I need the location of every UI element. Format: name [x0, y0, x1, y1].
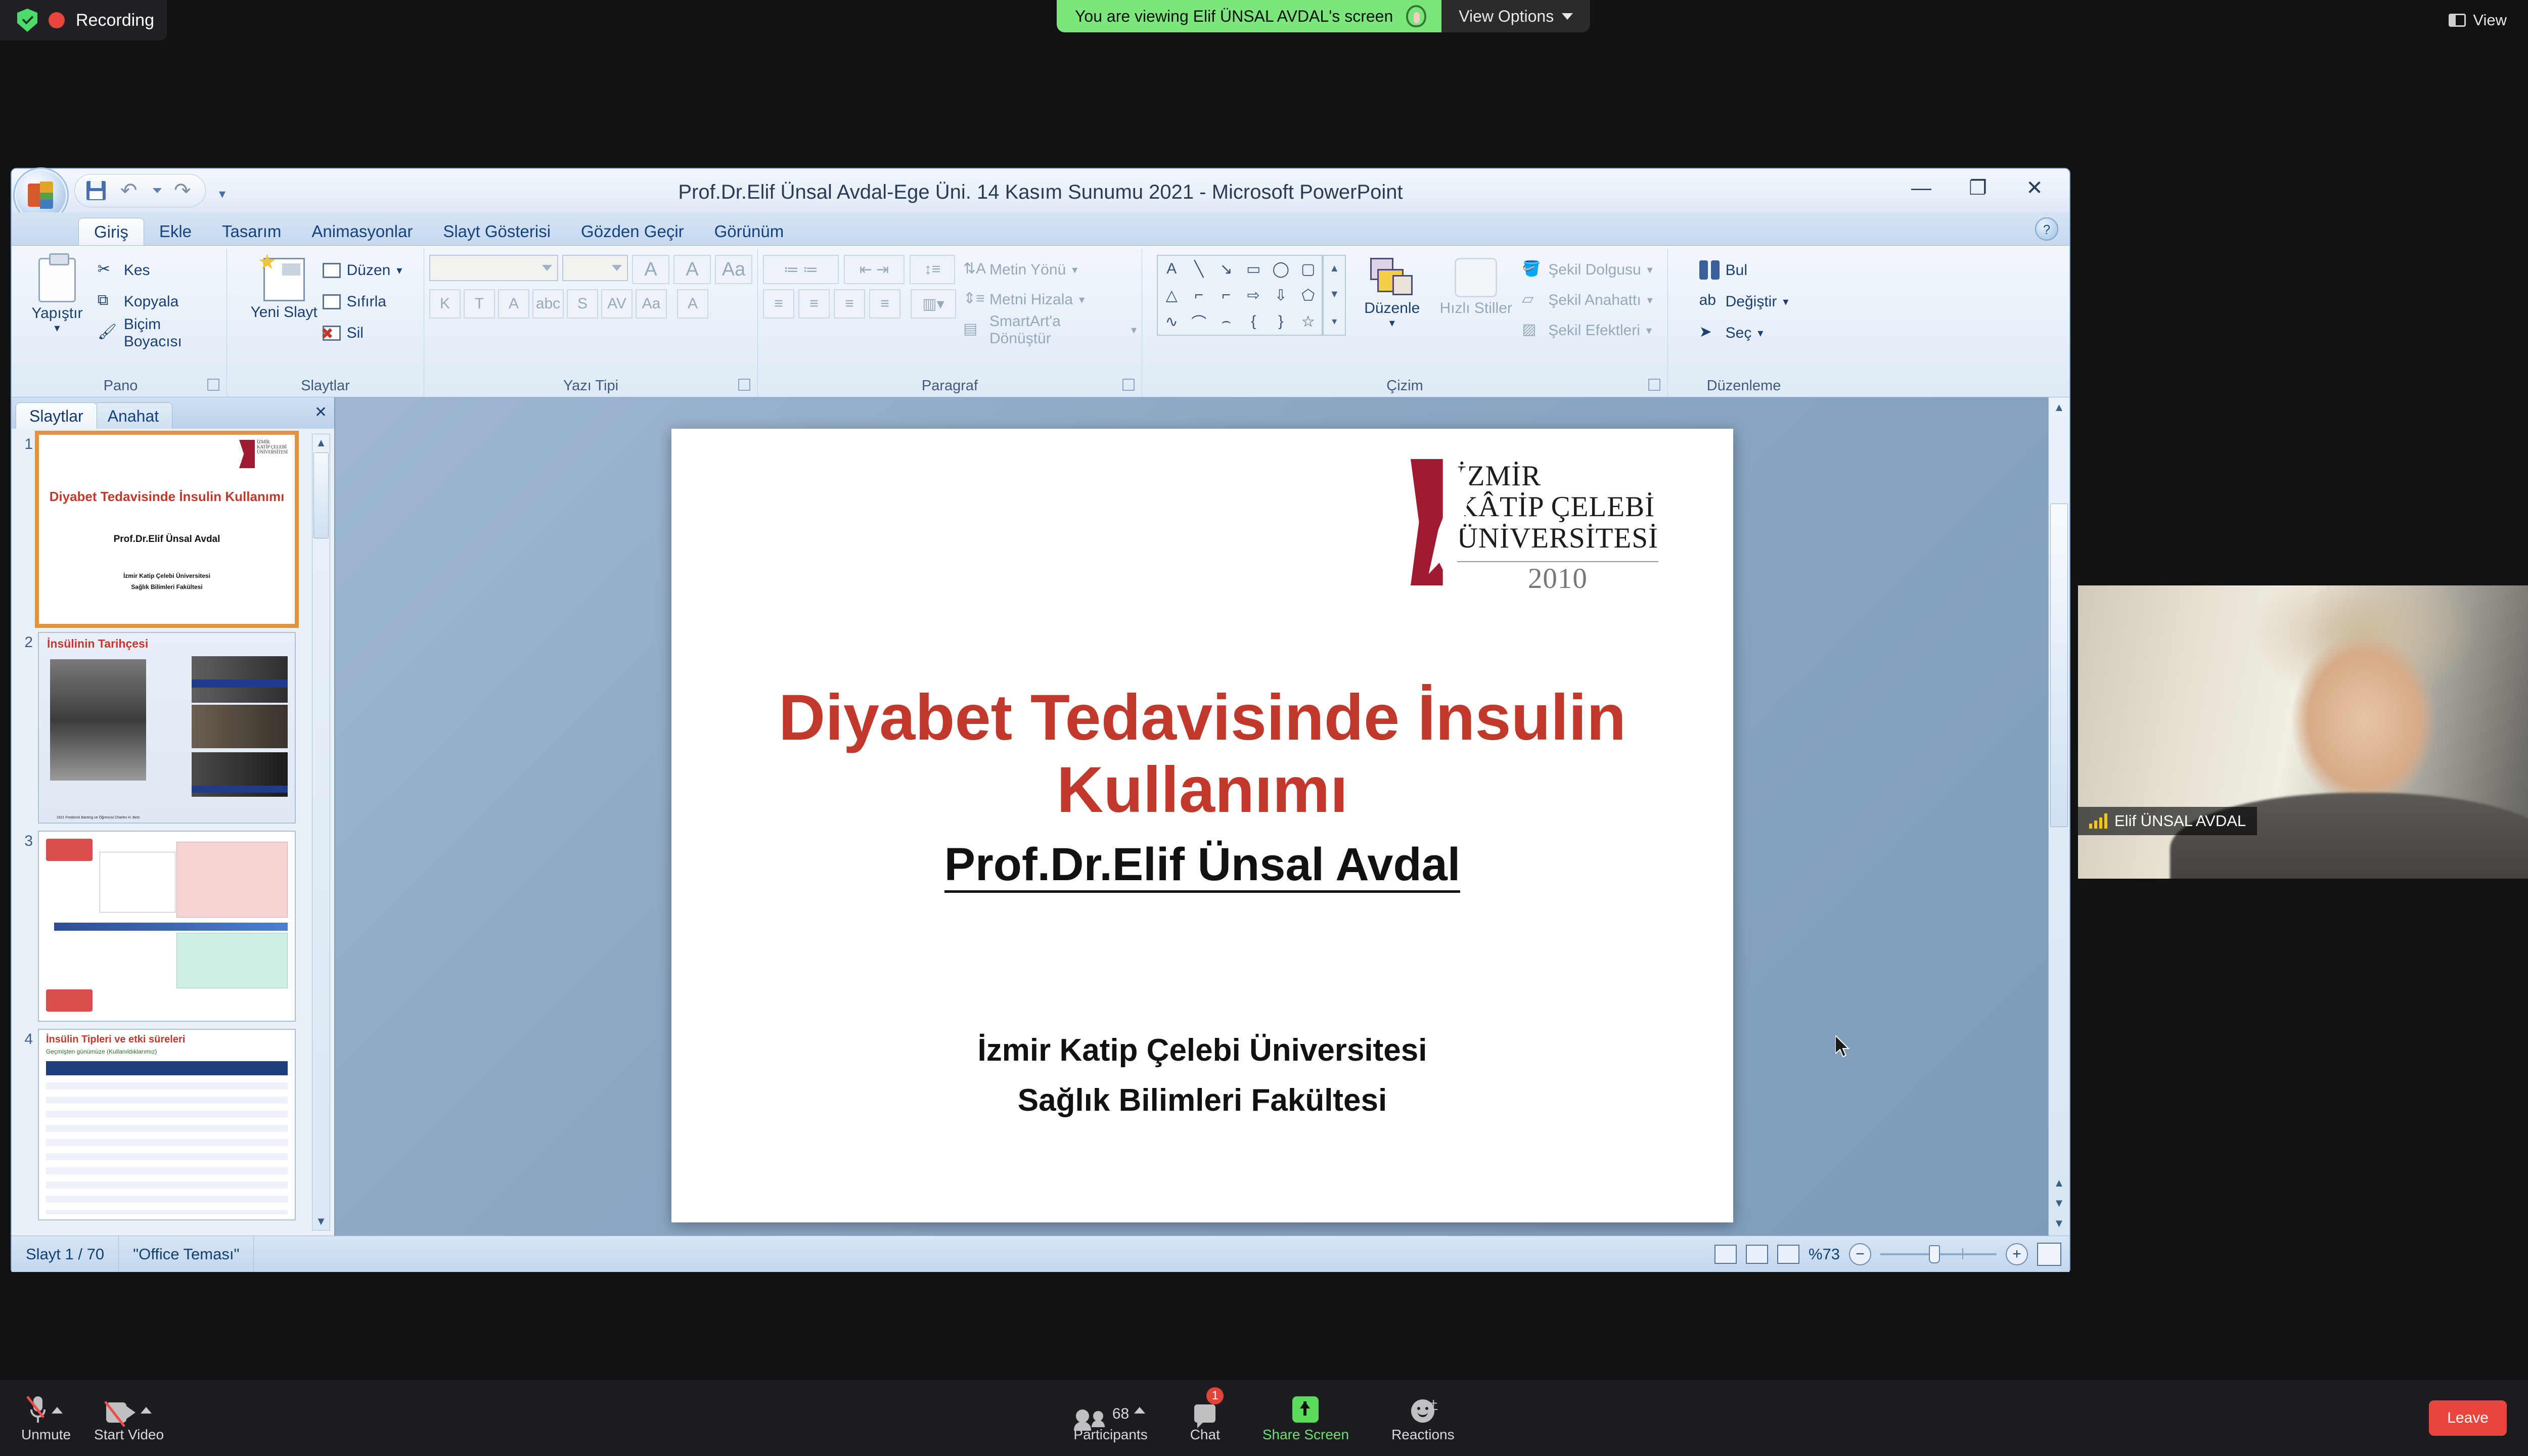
tab-ekle[interactable]: Ekle	[144, 218, 207, 245]
scissors-icon: ✂	[98, 260, 118, 281]
view-options-label: View Options	[1459, 7, 1554, 26]
powerpoint-status-bar: Slayt 1 / 70 "Office Teması" %73 − +	[12, 1236, 2069, 1272]
shape-pentagon-icon[interactable]: ⬠	[1294, 282, 1322, 308]
university-logo: İZMİR KÂTİP ÇELEBİ ÜNİVERSİTESİ 2010	[1411, 459, 1658, 596]
reset-icon	[323, 294, 341, 309]
drawing-dialog-launcher[interactable]	[1648, 379, 1660, 391]
slide-scroll-up-icon[interactable]: ▲	[2049, 397, 2069, 418]
slide-title-line1: Diyabet Tedavisinde İnsulin	[779, 681, 1626, 754]
shapes-gallery[interactable]: A ╲ ↘ ▭ ◯ ▢ △ ⌐ ⌐ ⇨ ⇩ ⬠ ∿	[1157, 255, 1323, 336]
thumbnail-title: İnsülinin Tarihçesi	[47, 637, 148, 651]
logo-line-3: ÜNİVERSİTESİ	[1457, 523, 1658, 554]
previous-slide-icon[interactable]: ▲	[2049, 1173, 2069, 1193]
powerpoint-main-area: Slaytlar Anahat ✕ 1 İZMİRKATİP ÇELEBİÜNİ…	[12, 397, 2069, 1236]
delete-icon: ✖	[323, 326, 341, 341]
layout-view-icon	[2449, 14, 2466, 27]
text-direction-button[interactable]: ⇅A Metin Yönü ▾	[963, 255, 1137, 285]
theme-name: "Office Teması"	[119, 1236, 254, 1272]
minimize-button[interactable]: —	[1894, 174, 1948, 202]
slide-author-text: Prof.Dr.Elif Ünsal Avdal	[944, 839, 1461, 893]
logo-year: 2010	[1457, 561, 1658, 595]
slide-thumbnail-list[interactable]: 1 İZMİRKATİP ÇELEBİÜNİVERSİTESİ Diyabet …	[12, 429, 334, 1236]
list-item[interactable]: 1 İZMİRKATİP ÇELEBİÜNİVERSİTESİ Diyabet …	[18, 434, 308, 625]
slide-sorter-view-button[interactable]	[1746, 1245, 1768, 1264]
shape-arrow-icon[interactable]: ↘	[1212, 256, 1240, 282]
current-slide[interactable]: İZMİR KÂTİP ÇELEBİ ÜNİVERSİTESİ 2010 Diy…	[671, 429, 1733, 1222]
arrange-label: Düzenle	[1364, 300, 1420, 316]
security-shield-icon	[17, 9, 37, 32]
ribbon-group-slides: Yeni Slayt Düzen ▾ Sıfırla	[227, 249, 424, 397]
smartart-icon: ▤	[963, 320, 983, 340]
text-direction-icon: ⇅A	[963, 260, 983, 280]
layout-label: Düzen	[347, 262, 391, 279]
mouse-cursor	[1835, 1035, 1853, 1060]
shape-textbox-icon[interactable]: A	[1158, 256, 1185, 282]
strikethrough-button[interactable]: abc	[532, 289, 564, 318]
paragraph-dialog-launcher[interactable]	[1122, 379, 1135, 391]
logo-line-2: KÂTİP ÇELEBİ	[1457, 491, 1658, 523]
tab-gozden-gecir[interactable]: Gözden Geçir	[566, 218, 699, 245]
format-painter-label: Biçim Boyacısı	[124, 316, 221, 350]
zoom-slider-tick	[1962, 1248, 1963, 1259]
thumbnail-caption: 1921 Frederick Banting ve Öğrencisi Char…	[50, 816, 146, 820]
shape-fill-button[interactable]: 🪣 Şekil Dolgusu ▾	[1522, 255, 1653, 285]
recording-label: Recording	[76, 11, 154, 30]
thumbnail-title: İnsülin Tipleri ve etki süreleri	[46, 1034, 185, 1045]
chat-icon: 1	[1194, 1393, 1215, 1423]
thumbnail-org1: İzmir Katip Çelebi Üniversitesi	[49, 572, 285, 579]
thumbnail-title: Diyabet Tedavisinde İnsulin Kullanımı	[49, 489, 285, 505]
thumbnails-scroll-down-icon[interactable]: ▼	[312, 1213, 330, 1230]
screen-share-banner: You are viewing Elif ÜNSAL AVDAL's scree…	[1057, 0, 1590, 32]
restore-button[interactable]: ❐	[1951, 174, 2005, 202]
list-item[interactable]: 4 İnsülin Tipleri ve etki süreleri Geçmi…	[18, 1029, 308, 1220]
recording-dot-icon	[49, 12, 65, 28]
chat-label: Chat	[1190, 1427, 1220, 1443]
tab-gorunum[interactable]: Görünüm	[699, 218, 799, 245]
list-item[interactable]: 3	[18, 831, 308, 1022]
shape-arc-icon[interactable]: ⌒	[1185, 308, 1212, 335]
bold-button[interactable]: K	[429, 289, 461, 318]
new-slide-icon	[263, 258, 305, 301]
ribbon-group-font: A A Aa K T A abc S AV Aa A	[424, 249, 758, 397]
window-controls: — ❐ ✕	[1894, 174, 2061, 202]
shape-rounded-rect-icon[interactable]: ▢	[1294, 256, 1322, 282]
slide-show-view-button[interactable]	[1777, 1245, 1799, 1264]
tab-slayt-gosterisi[interactable]: Slayt Gösterisi	[428, 218, 566, 245]
binoculars-icon	[1699, 260, 1720, 281]
shadow-button[interactable]: S	[567, 289, 598, 318]
ribbon: Yapıştır ▾ ✂ Kes ⧉ Kopyala 🖌	[12, 246, 2069, 397]
slides-pane-close-button[interactable]: ✕	[314, 403, 327, 421]
zoom-level-label: %73	[1809, 1245, 1840, 1263]
powerpoint-window: ↶ ↷ ▾ Prof.Dr.Elif Ünsal Avdal-Ege Üni. …	[11, 168, 2070, 1271]
logo-text-block: İZMİR KÂTİP ÇELEBİ ÜNİVERSİTESİ 2010	[1443, 459, 1658, 596]
zoom-in-button[interactable]: +	[2006, 1243, 2028, 1265]
share-status-icon	[1406, 5, 1426, 27]
fit-slide-to-window-button[interactable]	[2037, 1243, 2061, 1266]
speaker-video-tile[interactable]: Elif ÜNSAL AVDAL	[2078, 585, 2528, 879]
gallery-expand-icon[interactable]: ▾	[1332, 315, 1337, 328]
slide-org-line2: Sağlık Bilimleri Fakültesi	[737, 1075, 1667, 1125]
slide-title[interactable]: Diyabet Tedavisinde İnsulin Kullanımı	[737, 681, 1667, 827]
reactions-icon: +	[1411, 1393, 1434, 1423]
gallery-scroll-down-icon[interactable]: ▼	[1329, 289, 1339, 300]
next-slide-icon[interactable]: ▼	[2049, 1193, 2069, 1213]
font-name-input[interactable]	[429, 255, 558, 281]
thumbnail-number: 3	[18, 831, 38, 850]
chat-button[interactable]: 1 Chat	[1190, 1393, 1220, 1443]
izmir-katip-celebi-logo-icon	[1411, 459, 1443, 585]
reset-label: Sıfırla	[347, 293, 386, 310]
slide-title-line2: Kullanımı	[1057, 754, 1348, 826]
bullets-button[interactable]: ≔ ≔	[763, 255, 839, 284]
underline-button[interactable]: A	[498, 289, 529, 318]
align-right-button[interactable]: ≡	[834, 289, 865, 318]
zoom-bottom-toolbar: Unmute Start Video 68 Participants	[0, 1380, 2528, 1456]
delete-label: Sil	[347, 325, 364, 342]
view-layout-button[interactable]: View	[2449, 11, 2507, 29]
convert-smartart-button[interactable]: ▤ SmartArt'a Dönüştür ▾	[963, 314, 1137, 346]
text-direction-label: Metin Yönü	[989, 261, 1066, 279]
reset-button[interactable]: Sıfırla	[323, 286, 402, 317]
participants-caret-icon[interactable]	[1134, 1407, 1145, 1414]
change-case-button[interactable]: Aa	[636, 289, 667, 318]
share-banner-text-wrap: You are viewing Elif ÜNSAL AVDAL's scree…	[1057, 0, 1441, 32]
paste-button[interactable]: Yapıştır ▾	[20, 255, 95, 335]
pane-tab-anahat[interactable]: Anahat	[94, 402, 172, 429]
paste-icon	[38, 258, 76, 302]
list-item[interactable]: 2 İnsülinin Tarihçesi 1921 Frederick B	[18, 632, 308, 823]
thumbnails-scroll-up-icon[interactable]: ▲	[312, 434, 330, 451]
arrange-icon	[1370, 258, 1414, 297]
copy-button[interactable]: ⧉ Kopyala	[98, 286, 221, 317]
slide-organization[interactable]: İzmir Katip Çelebi Üniversitesi Sağlık B…	[737, 1025, 1667, 1125]
quick-styles-button[interactable]: Hızlı Stiller	[1438, 255, 1514, 316]
video-name-label: Elif ÜNSAL AVDAL	[2078, 807, 2257, 835]
quick-styles-icon	[1455, 258, 1497, 297]
copy-label: Kopyala	[124, 293, 178, 310]
font-size-input[interactable]	[562, 255, 628, 281]
select-cursor-icon: ➤	[1699, 323, 1720, 343]
zoom-meeting-shell: Recording You are viewing Elif ÜNSAL AVD…	[0, 0, 2528, 1456]
tab-animasyonlar[interactable]: Animasyonlar	[296, 218, 428, 245]
slide-scroll-down-icon[interactable]: ▼	[2049, 1213, 2069, 1234]
slide-edit-surface[interactable]: İZMİR KÂTİP ÇELEBİ ÜNİVERSİTESİ 2010 Diy…	[335, 397, 2069, 1236]
shape-outline-icon: ▱	[1522, 290, 1542, 310]
close-button[interactable]: ✕	[2008, 174, 2061, 202]
align-center-button[interactable]: ≡	[798, 289, 830, 318]
view-options-button[interactable]: View Options	[1441, 0, 1590, 32]
zoom-slider-thumb[interactable]	[1929, 1245, 1940, 1263]
shape-down-arrow-icon[interactable]: ⇩	[1267, 282, 1294, 308]
slides-group-title: Slaytlar	[232, 375, 419, 397]
slide-org-line1: İzmir Katip Çelebi Üniversitesi	[737, 1025, 1667, 1075]
slide-counter: Slayt 1 / 70	[12, 1236, 119, 1272]
font-dialog-launcher[interactable]	[738, 379, 750, 391]
format-painter-button[interactable]: 🖌 Biçim Boyacısı	[98, 317, 221, 349]
indent-buttons[interactable]: ⇤ ⇥	[844, 255, 905, 284]
line-spacing-button[interactable]: ↕≡	[910, 255, 955, 284]
select-label: Seç	[1726, 325, 1752, 342]
zoom-out-button[interactable]: −	[1849, 1243, 1871, 1265]
align-text-label: Metni Hizala	[989, 291, 1073, 308]
view-button-label: View	[2473, 11, 2507, 29]
shape-scribble-icon[interactable]: ∿	[1158, 308, 1185, 335]
layout-button[interactable]: Düzen ▾	[323, 255, 402, 286]
chat-unread-badge: 1	[1206, 1387, 1224, 1404]
replace-label: Değiştir	[1726, 293, 1777, 310]
shape-right-arrow-icon[interactable]: ⇨	[1240, 282, 1267, 308]
shape-effects-icon: ▨	[1522, 321, 1542, 341]
recording-indicator: Recording	[0, 0, 167, 40]
shape-left-brace-icon[interactable]: {	[1240, 308, 1267, 335]
new-slide-button[interactable]: Yeni Slayt	[249, 255, 320, 321]
thumbnail-subtitle: Geçmişten günümüze (Kullanıldıklarımız)	[46, 1048, 157, 1055]
share-banner-label: You are viewing Elif ÜNSAL AVDAL's scree…	[1075, 7, 1393, 26]
align-text-icon: ⇕≡	[963, 290, 983, 310]
shape-elbow-connector-icon[interactable]: ⌐	[1185, 282, 1212, 308]
arrange-button[interactable]: Düzenle ▾	[1354, 255, 1430, 330]
normal-view-button[interactable]	[1714, 1245, 1737, 1264]
paragraph-group-title: Paragraf	[763, 375, 1137, 397]
slide-author[interactable]: Prof.Dr.Elif Ünsal Avdal	[737, 838, 1667, 891]
ribbon-group-clipboard: Yapıştır ▾ ✂ Kes ⧉ Kopyala 🖌	[15, 249, 227, 397]
slides-pane: Slaytlar Anahat ✕ 1 İZMİRKATİP ÇELEBİÜNİ…	[12, 397, 335, 1236]
find-button[interactable]: Bul	[1699, 255, 1789, 286]
replace-button[interactable]: ab Değiştir ▾	[1699, 286, 1789, 317]
slide-thumbnail-1[interactable]: İZMİRKATİP ÇELEBİÜNİVERSİTESİ Diyabet Te…	[38, 434, 296, 625]
chevron-down-icon	[1562, 13, 1573, 20]
shape-rectangle-icon[interactable]: ▭	[1240, 256, 1267, 282]
paste-label: Yapıştır	[31, 305, 82, 322]
delete-slide-button[interactable]: ✖ Sil	[323, 317, 402, 349]
select-button[interactable]: ➤ Seç ▾	[1699, 317, 1789, 349]
powerpoint-titlebar: ↶ ↷ ▾ Prof.Dr.Elif Ünsal Avdal-Ege Üni. …	[12, 169, 2069, 212]
drawing-group-title: Çizim	[1147, 375, 1662, 397]
reactions-label: Reactions	[1391, 1427, 1455, 1443]
slide-thumbnail-2[interactable]: İnsülinin Tarihçesi 1921 Frederick Banti…	[38, 632, 296, 823]
thumbnail-number: 1	[18, 434, 38, 453]
speaker-name: Elif ÜNSAL AVDAL	[2114, 812, 2246, 830]
shape-triangle-icon[interactable]: △	[1158, 282, 1185, 308]
slide-area-scrollbar[interactable]: ▲ ▲ ▼ ▼	[2048, 397, 2069, 1236]
audio-level-icon	[2089, 813, 2107, 829]
pane-tab-slaytlar[interactable]: Slaytlar	[16, 402, 97, 429]
clear-formatting-button[interactable]: Aa	[715, 255, 752, 284]
tab-giris[interactable]: Giriş	[78, 218, 144, 245]
replace-icon: ab	[1699, 292, 1720, 312]
tab-tasarim[interactable]: Tasarım	[207, 218, 296, 245]
cut-label: Kes	[124, 262, 150, 279]
slide-thumbnail-4[interactable]: İnsülin Tipleri ve etki süreleri Geçmişt…	[38, 1029, 296, 1220]
italic-button[interactable]: T	[464, 289, 495, 318]
shape-elbow-arrow-icon[interactable]: ⌐	[1212, 282, 1240, 308]
ribbon-tab-strip: Giriş Ekle Tasarım Animasyonlar Slayt Gö…	[12, 212, 2069, 246]
align-left-button[interactable]: ≡	[763, 289, 794, 318]
gallery-scroll-up-icon[interactable]: ▲	[1329, 263, 1339, 275]
thumbnail-number: 4	[18, 1029, 38, 1048]
participants-count: 68	[1112, 1405, 1129, 1423]
share-screen-button[interactable]: Share Screen	[1262, 1393, 1349, 1443]
thumbnails-scroll-thumb[interactable]	[313, 452, 329, 538]
character-spacing-button[interactable]: AV	[601, 289, 633, 318]
find-label: Bul	[1726, 262, 1747, 279]
align-text-button[interactable]: ⇕≡ Metni Hizala ▾	[963, 285, 1137, 314]
thumbnail-author: Prof.Dr.Elif Ünsal Avdal	[49, 534, 285, 545]
leave-meeting-button[interactable]: Leave	[2429, 1400, 2507, 1436]
font-color-button[interactable]: A	[677, 289, 708, 318]
reactions-button[interactable]: + Reactions	[1391, 1393, 1455, 1443]
participants-icon: 68	[1076, 1393, 1145, 1423]
new-slide-label: Yeni Slayt	[250, 304, 317, 321]
help-button[interactable]: ?	[2035, 217, 2058, 241]
ribbon-group-drawing: A ╲ ↘ ▭ ◯ ▢ △ ⌐ ⌐ ⇨ ⇩ ⬠ ∿	[1142, 249, 1668, 397]
shape-curve-icon[interactable]: ⌢	[1212, 308, 1240, 335]
thumbnail-org2: Sağlık Bilimleri Fakültesi	[49, 583, 285, 590]
columns-button[interactable]: ▥▾	[911, 289, 956, 318]
shrink-font-button[interactable]: A	[673, 255, 711, 284]
logo-line-1: İZMİR	[1457, 461, 1658, 492]
slides-pane-tabs: Slaytlar Anahat ✕	[12, 397, 334, 429]
window-title: Prof.Dr.Elif Ünsal Avdal-Ege Üni. 14 Kas…	[12, 181, 2069, 204]
clipboard-dialog-launcher[interactable]	[207, 379, 219, 391]
shape-effects-button[interactable]: ▨ Şekil Efektleri ▾	[1522, 315, 1653, 346]
shape-star-icon[interactable]: ☆	[1294, 308, 1322, 335]
cut-button[interactable]: ✂ Kes	[98, 255, 221, 286]
thumbnails-scrollbar[interactable]: ▲ ▼	[312, 434, 330, 1231]
shape-effects-label: Şekil Efektleri	[1548, 322, 1640, 339]
shape-fill-label: Şekil Dolgusu	[1548, 261, 1641, 279]
editing-group-title: Düzenleme	[1673, 375, 1815, 397]
shape-line-icon[interactable]: ╲	[1185, 256, 1212, 282]
shape-outline-button[interactable]: ▱ Şekil Anahattı ▾	[1522, 285, 1653, 315]
font-group-title: Yazı Tipi	[429, 375, 752, 397]
shape-outline-label: Şekil Anahattı	[1548, 292, 1641, 309]
justify-button[interactable]: ≡	[869, 289, 900, 318]
format-painter-icon: 🖌	[98, 323, 118, 343]
clipboard-group-title: Pano	[20, 375, 221, 397]
slide-thumbnail-3[interactable]	[38, 831, 296, 1022]
participants-button[interactable]: 68 Participants	[1073, 1393, 1147, 1443]
shape-oval-icon[interactable]: ◯	[1267, 256, 1294, 282]
shape-fill-icon: 🪣	[1522, 260, 1542, 280]
share-screen-label: Share Screen	[1262, 1427, 1349, 1443]
grow-font-button[interactable]: A	[632, 255, 669, 284]
thumbnail-number: 2	[18, 632, 38, 651]
ribbon-group-paragraph: ≔ ≔ ⇤ ⇥ ↕≡ ≡ ≡ ≡ ≡ ▥▾	[758, 249, 1142, 397]
shape-right-brace-icon[interactable]: }	[1267, 308, 1294, 335]
zoom-controls: %73 − +	[1714, 1236, 2061, 1272]
convert-smartart-label: SmartArt'a Dönüştür	[989, 313, 1125, 347]
share-screen-icon	[1292, 1393, 1319, 1423]
layout-icon	[323, 263, 341, 278]
ribbon-group-editing: Bul ab Değiştir ▾ ➤ Seç ▾	[1668, 249, 1820, 397]
copy-icon: ⧉	[98, 292, 118, 312]
slide-scroll-thumb[interactable]	[2050, 504, 2068, 827]
zoom-slider[interactable]	[1880, 1253, 1997, 1255]
shapes-gallery-scroll[interactable]: ▲ ▼ ▾	[1323, 255, 1346, 336]
quick-styles-label: Hızlı Stiller	[1440, 300, 1512, 316]
